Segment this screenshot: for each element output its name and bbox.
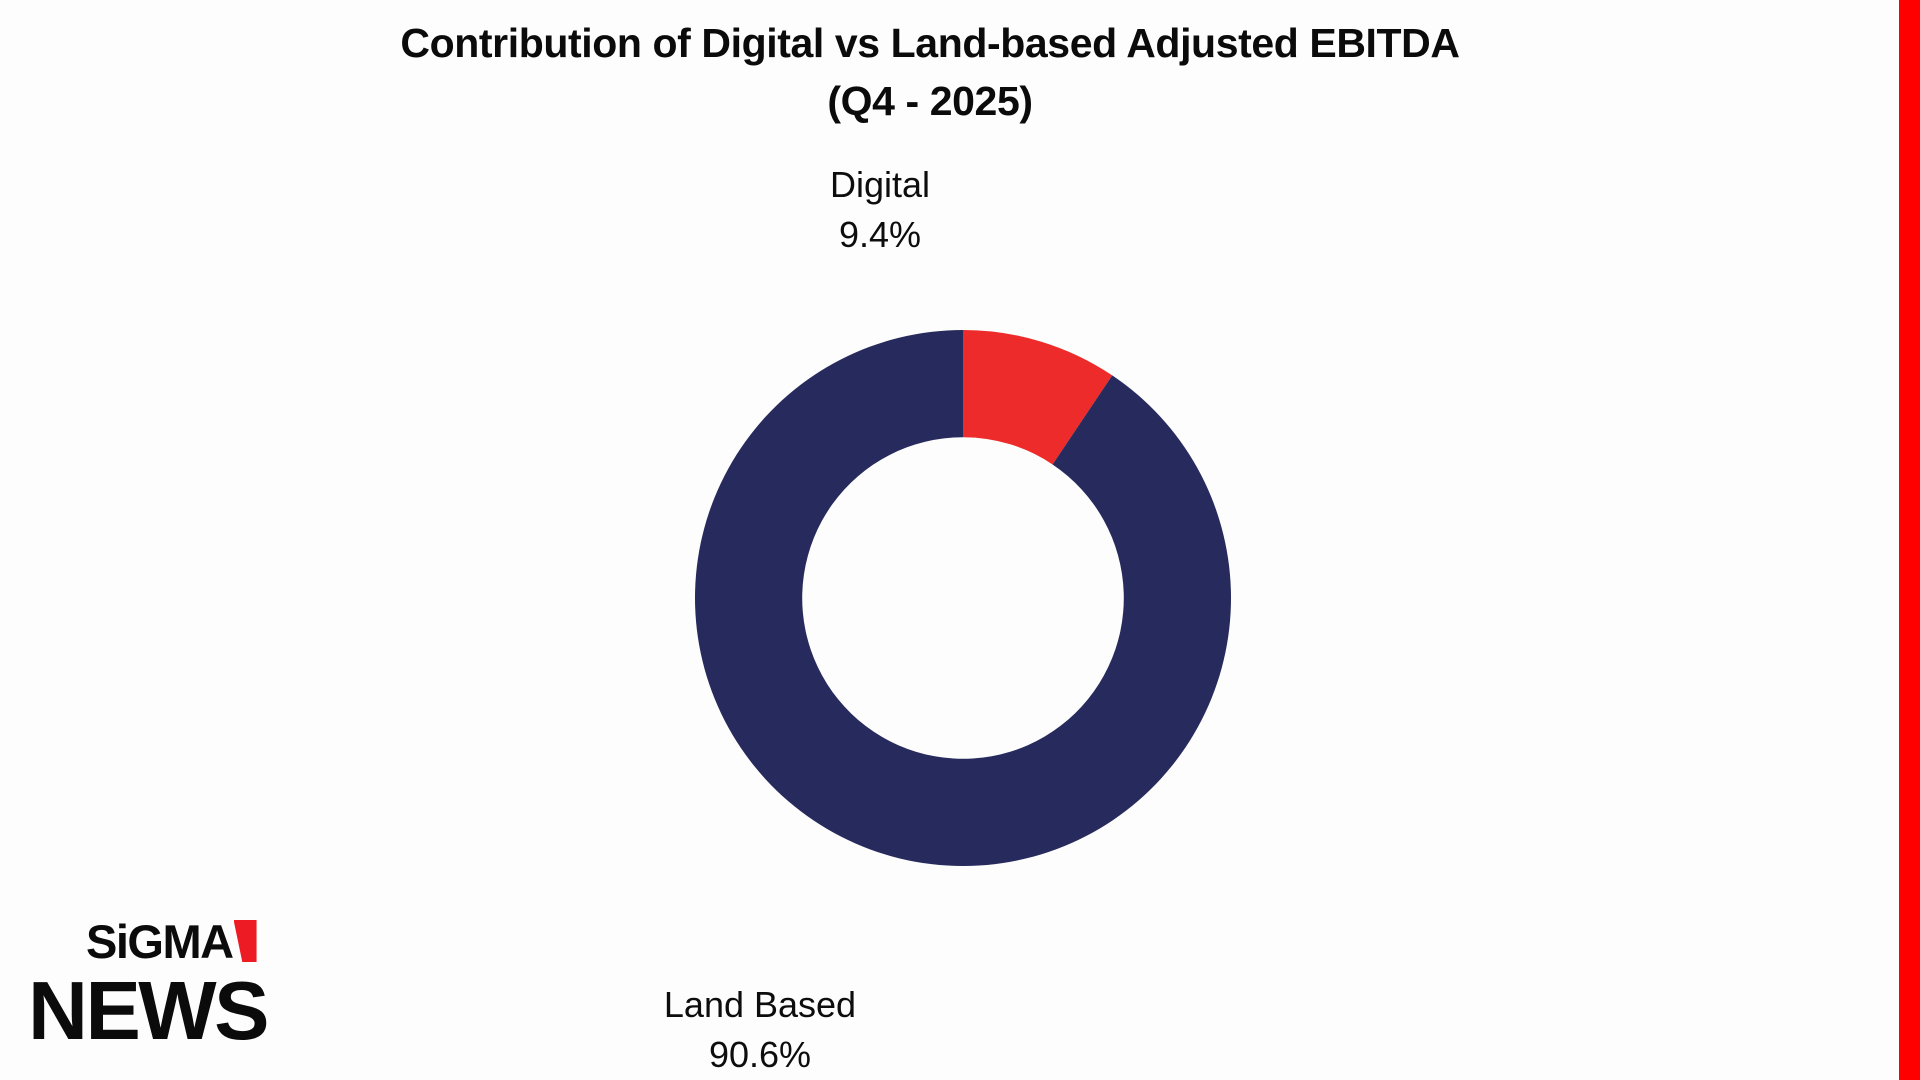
slice-label-land-based-name: Land Based bbox=[560, 980, 960, 1030]
donut-chart-svg bbox=[695, 330, 1231, 866]
logo-sigma-text: SiGMA bbox=[86, 916, 233, 968]
logo-wordmark-sigma-row: SiGMA bbox=[86, 916, 358, 972]
slice-label-land-based: Land Based 90.6% bbox=[560, 980, 960, 1080]
slice-label-digital: Digital 9.4% bbox=[760, 160, 1000, 260]
donut-slice-land-based bbox=[695, 330, 1231, 866]
logo-news-text: NEWS bbox=[28, 968, 358, 1054]
sigma-news-logo: SiGMA NEWS bbox=[28, 916, 358, 1066]
slice-label-digital-name: Digital bbox=[760, 160, 1000, 210]
logo-red-flag-icon bbox=[234, 920, 257, 962]
slice-label-land-based-value: 90.6% bbox=[560, 1030, 960, 1080]
slice-label-digital-value: 9.4% bbox=[760, 210, 1000, 260]
